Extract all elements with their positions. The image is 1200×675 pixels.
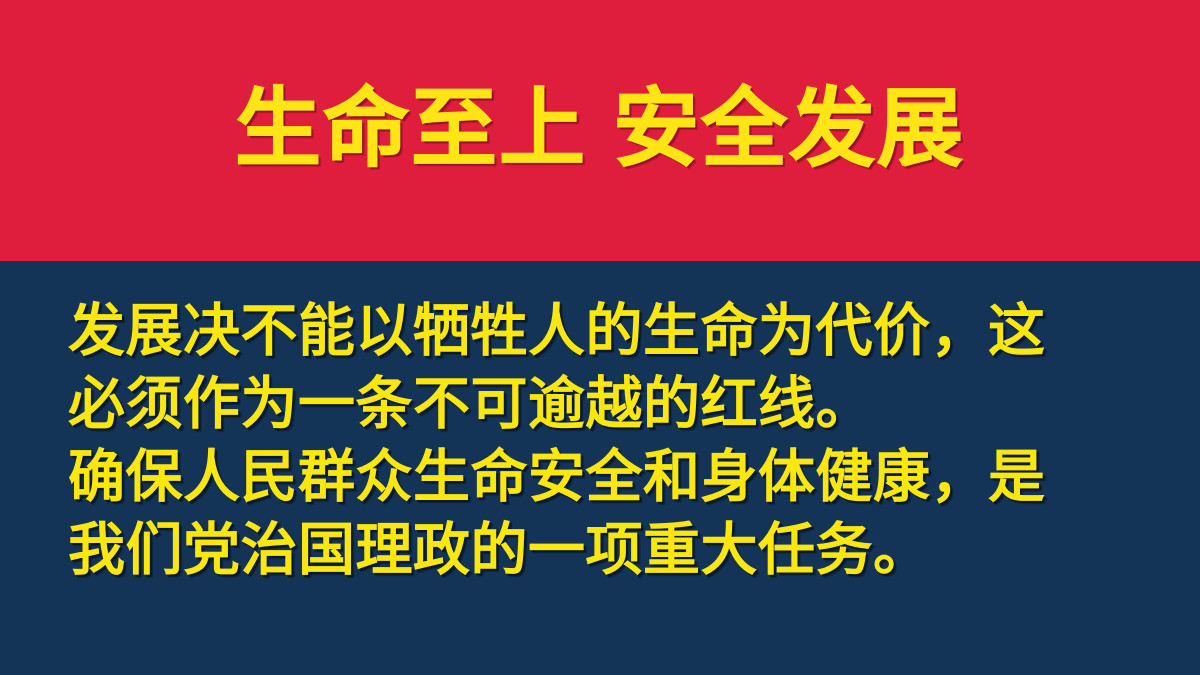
- body-line-2: 必须作为一条不可逾越的红线。: [68, 368, 1158, 441]
- slide-body-area: 发展决不能以牺牲人的生命为代价，这 必须作为一条不可逾越的红线。 确保人民群众生…: [0, 261, 1200, 675]
- body-line-1: 发展决不能以牺牲人的生命为代价，这: [68, 295, 1158, 368]
- title-banner: 生命至上 安全发展: [0, 0, 1200, 261]
- body-text-block: 发展决不能以牺牲人的生命为代价，这 必须作为一条不可逾越的红线。 确保人民群众生…: [68, 295, 1158, 587]
- slide-title: 生命至上 安全发展: [235, 86, 965, 176]
- body-line-3: 确保人民群众生命安全和身体健康，是: [68, 441, 1158, 514]
- presentation-slide: 生命至上 安全发展 发展决不能以牺牲人的生命为代价，这 必须作为一条不可逾越的红…: [0, 0, 1200, 675]
- body-line-4: 我们党治国理政的一项重大任务。: [68, 514, 1158, 587]
